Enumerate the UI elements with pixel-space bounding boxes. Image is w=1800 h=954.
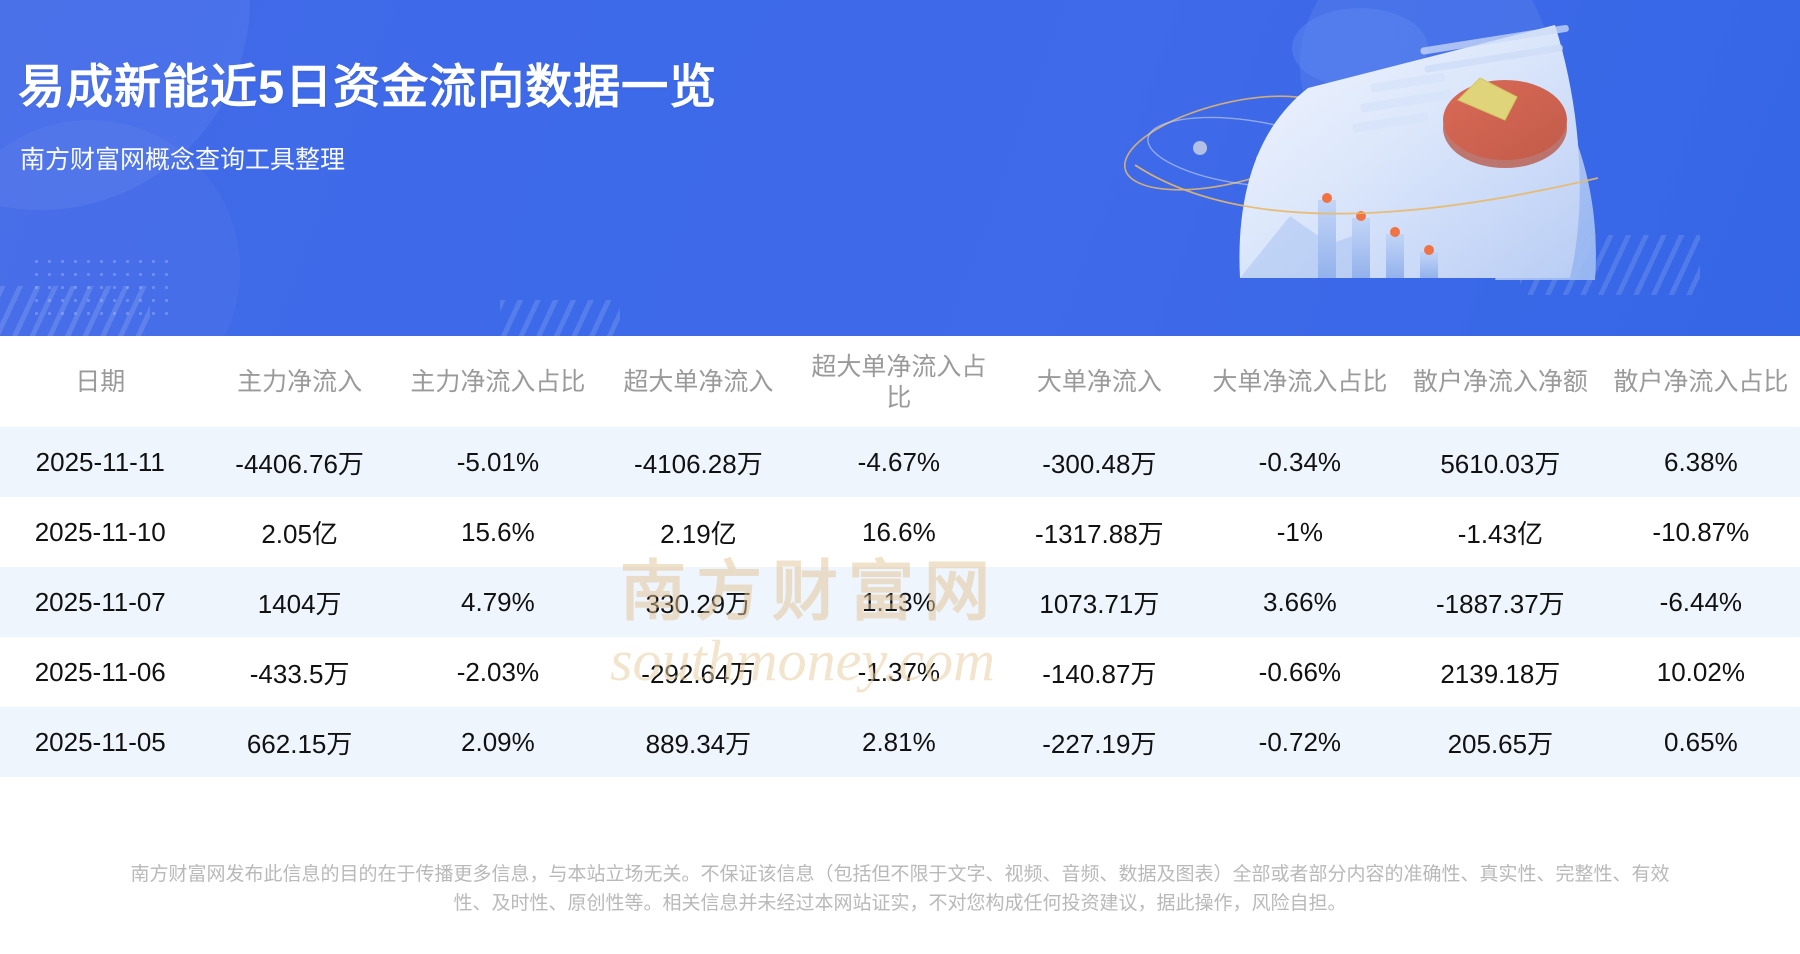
table-row: 2025-11-10 2.05亿 15.6% 2.19亿 16.6% -1317…	[0, 497, 1800, 567]
col-header-main-pct: 主力净流入占比	[399, 336, 597, 427]
cell-lg-pct: 3.66%	[1201, 567, 1399, 637]
cell-xl-pct: 16.6%	[800, 497, 998, 567]
decorative-stripes	[0, 286, 150, 336]
page-title: 易成新能近5日资金流向数据一览	[18, 48, 717, 117]
table-header-row: 日期 主力净流入 主力净流入占比 超大单净流入 超大单净流入占比 大单净流入 大…	[0, 336, 1800, 427]
cell-main-pct: -2.03%	[399, 637, 597, 707]
cell-retail-pct: 6.38%	[1602, 427, 1800, 497]
cell-retail-net: 205.65万	[1399, 707, 1602, 777]
col-header-retail-net: 散户净流入净额	[1399, 336, 1602, 427]
cell-date: 2025-11-11	[0, 427, 200, 497]
cell-xl-pct: 2.81%	[800, 707, 998, 777]
cell-lg-pct: -0.66%	[1201, 637, 1399, 707]
cell-date: 2025-11-06	[0, 637, 200, 707]
table-row: 2025-11-07 1404万 4.79% 330.29万 1.13% 107…	[0, 567, 1800, 637]
cell-xl-net: 330.29万	[597, 567, 800, 637]
cell-lg-net: 1073.71万	[998, 567, 1201, 637]
cell-retail-pct: -6.44%	[1602, 567, 1800, 637]
fund-flow-table-wrap: 日期 主力净流入 主力净流入占比 超大单净流入 超大单净流入占比 大单净流入 大…	[0, 336, 1800, 777]
cell-xl-net: -4106.28万	[597, 427, 800, 497]
cell-lg-net: -140.87万	[998, 637, 1201, 707]
page-subtitle: 南方财富网概念查询工具整理	[20, 140, 345, 176]
cell-main-net: -433.5万	[200, 637, 398, 707]
cell-date: 2025-11-05	[0, 707, 200, 777]
decorative-stripes	[500, 300, 620, 336]
col-header-retail-pct: 散户净流入占比	[1602, 336, 1800, 427]
cell-retail-net: 5610.03万	[1399, 427, 1602, 497]
page-root: 易成新能近5日资金流向数据一览 南方财富网概念查询工具整理	[0, 0, 1800, 954]
cell-lg-net: -300.48万	[998, 427, 1201, 497]
col-header-xl-pct: 超大单净流入占比	[800, 336, 998, 427]
disclaimer-footer: 南方财富网发布此信息的目的在于传播更多信息，与本站立场无关。不保证该信息（包括但…	[0, 860, 1800, 919]
cell-main-net: 2.05亿	[200, 497, 398, 567]
report-chart-illustration	[1040, 0, 1600, 290]
cell-lg-pct: -0.72%	[1201, 707, 1399, 777]
cell-lg-net: -227.19万	[998, 707, 1201, 777]
cell-main-pct: 15.6%	[399, 497, 597, 567]
cell-date: 2025-11-10	[0, 497, 200, 567]
cell-xl-pct: 1.13%	[800, 567, 998, 637]
cell-retail-net: 2139.18万	[1399, 637, 1602, 707]
disclaimer-line-1: 南方财富网发布此信息的目的在于传播更多信息，与本站立场无关。不保证该信息（包括但…	[6, 860, 1794, 889]
cell-retail-pct: 10.02%	[1602, 637, 1800, 707]
table-row: 2025-11-06 -433.5万 -2.03% -292.64万 -1.37…	[0, 637, 1800, 707]
cell-date: 2025-11-07	[0, 567, 200, 637]
disclaimer-line-2: 性、及时性、原创性等。相关信息并未经过本网站证实，不对您构成任何投资建议，据此操…	[6, 889, 1794, 918]
table-row: 2025-11-11 -4406.76万 -5.01% -4106.28万 -4…	[0, 427, 1800, 497]
cell-xl-net: 889.34万	[597, 707, 800, 777]
cell-xl-pct: -4.67%	[800, 427, 998, 497]
cell-lg-pct: -1%	[1201, 497, 1399, 567]
cell-main-net: -4406.76万	[200, 427, 398, 497]
col-header-lg-net: 大单净流入	[998, 336, 1201, 427]
fund-flow-table: 日期 主力净流入 主力净流入占比 超大单净流入 超大单净流入占比 大单净流入 大…	[0, 336, 1800, 777]
decorative-dot-grid	[30, 255, 170, 325]
cell-retail-net: -1.43亿	[1399, 497, 1602, 567]
cell-lg-net: -1317.88万	[998, 497, 1201, 567]
cell-main-net: 662.15万	[200, 707, 398, 777]
col-header-xl-net: 超大单净流入	[597, 336, 800, 427]
cell-xl-pct: -1.37%	[800, 637, 998, 707]
cell-xl-net: 2.19亿	[597, 497, 800, 567]
cell-main-pct: 2.09%	[399, 707, 597, 777]
col-header-main-net: 主力净流入	[200, 336, 398, 427]
table-head: 日期 主力净流入 主力净流入占比 超大单净流入 超大单净流入占比 大单净流入 大…	[0, 336, 1800, 427]
col-header-lg-pct: 大单净流入占比	[1201, 336, 1399, 427]
col-header-date: 日期	[0, 336, 200, 427]
cell-main-net: 1404万	[200, 567, 398, 637]
cell-retail-pct: 0.65%	[1602, 707, 1800, 777]
page-banner: 易成新能近5日资金流向数据一览 南方财富网概念查询工具整理	[0, 0, 1800, 336]
cell-main-pct: 4.79%	[399, 567, 597, 637]
cell-retail-net: -1887.37万	[1399, 567, 1602, 637]
cell-main-pct: -5.01%	[399, 427, 597, 497]
table-row: 2025-11-05 662.15万 2.09% 889.34万 2.81% -…	[0, 707, 1800, 777]
table-body: 2025-11-11 -4406.76万 -5.01% -4106.28万 -4…	[0, 427, 1800, 777]
cell-lg-pct: -0.34%	[1201, 427, 1399, 497]
cell-xl-net: -292.64万	[597, 637, 800, 707]
cell-retail-pct: -10.87%	[1602, 497, 1800, 567]
